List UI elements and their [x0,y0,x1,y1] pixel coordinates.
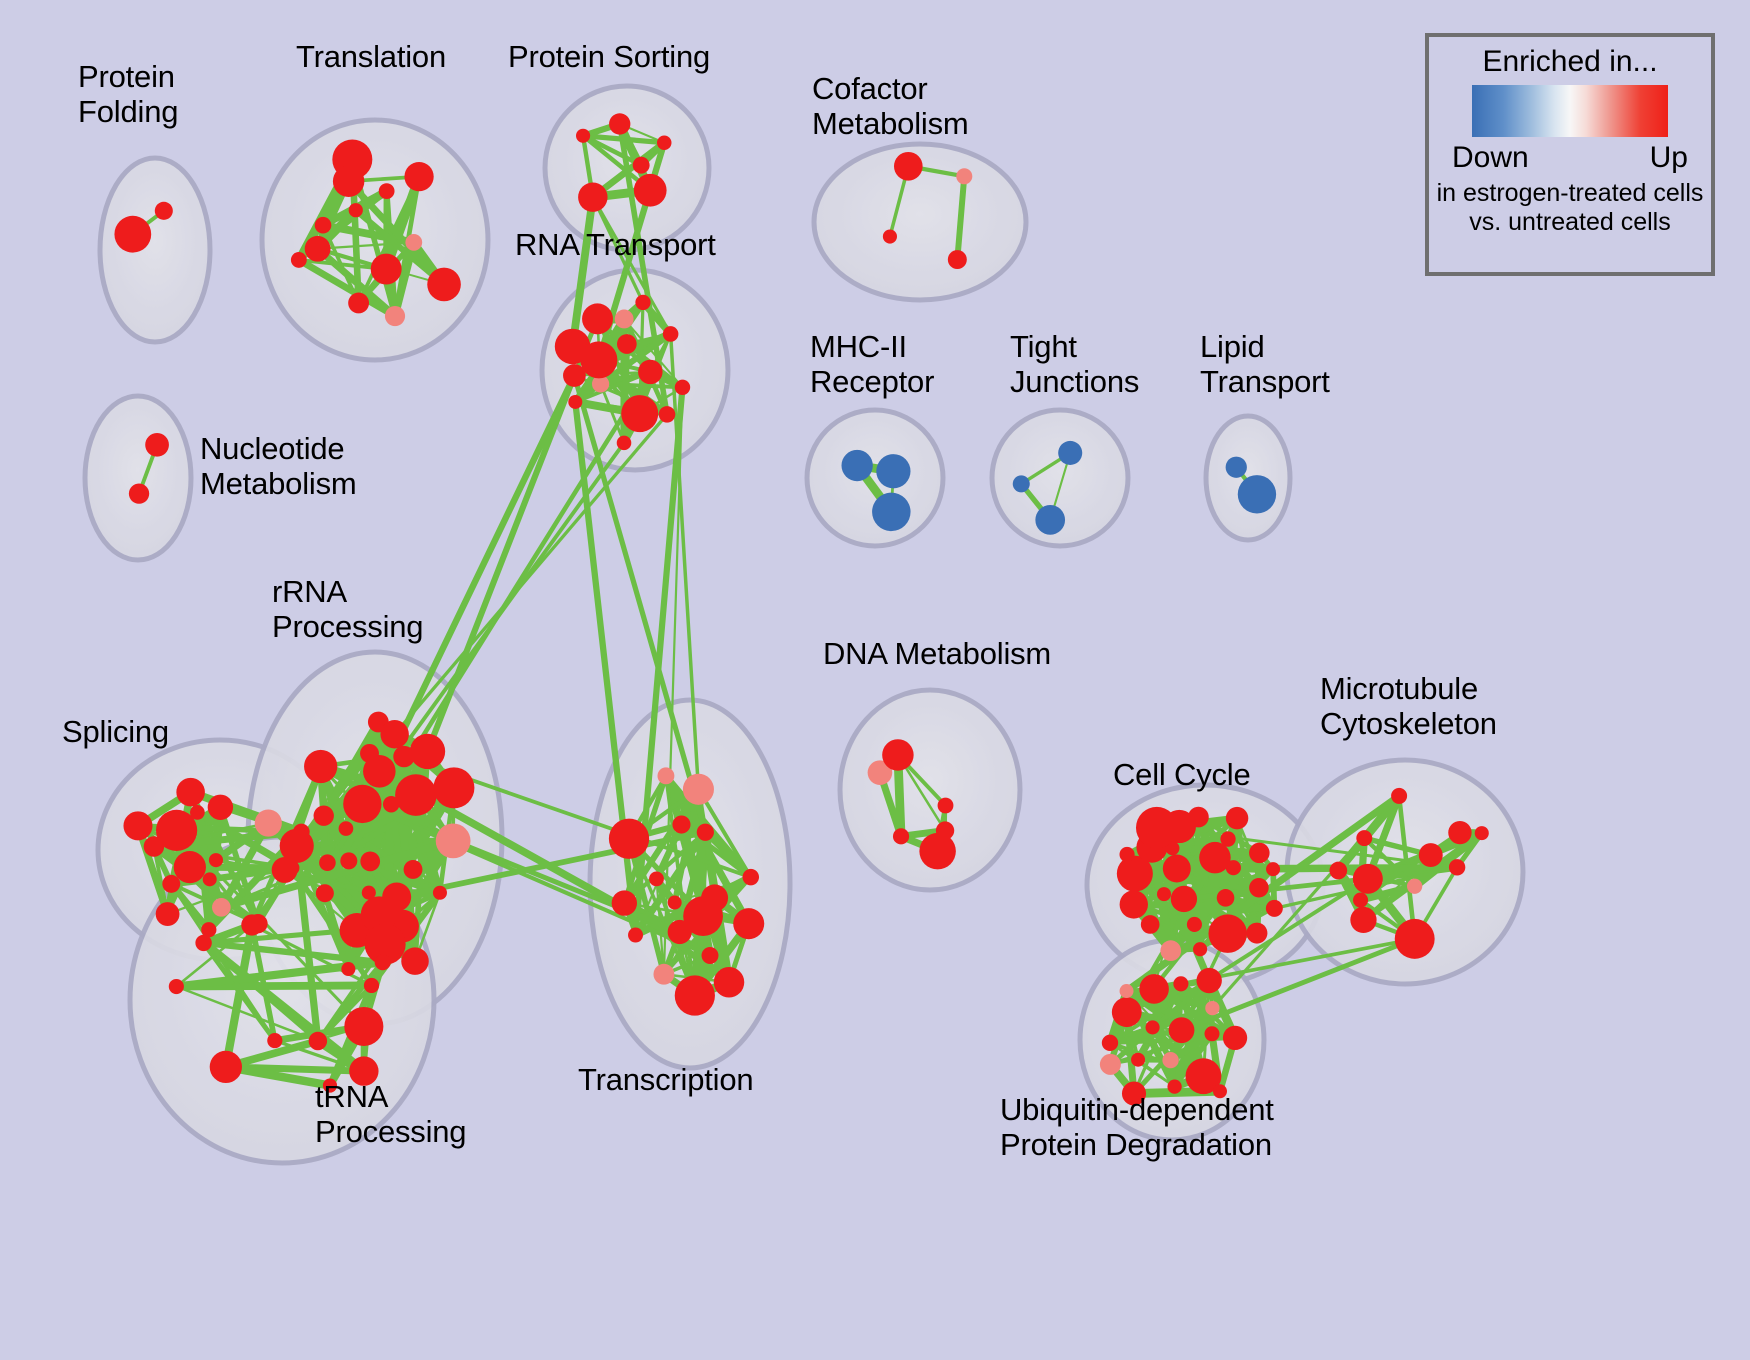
network-node[interactable] [1350,907,1376,933]
network-node[interactable] [675,380,690,395]
network-node[interactable] [393,746,414,767]
network-node[interactable] [395,774,437,816]
network-node[interactable] [714,967,744,997]
network-node[interactable] [876,454,910,488]
network-node[interactable] [344,1007,383,1046]
cluster-ellipse-mhc-ii-receptor[interactable] [807,410,943,546]
network-node[interactable] [938,798,954,814]
network-node[interactable] [1448,821,1471,844]
network-node[interactable] [195,935,211,951]
network-node[interactable] [401,947,429,975]
network-node[interactable] [582,303,613,334]
network-node[interactable] [1475,826,1489,840]
network-node[interactable] [176,778,205,807]
network-node[interactable] [1223,1026,1247,1050]
network-node[interactable] [653,964,674,985]
network-node[interactable] [1112,997,1142,1027]
network-node[interactable] [348,293,369,314]
cluster-label-tight-junctions: Tight Junctions [1010,330,1139,399]
network-node[interactable] [144,836,165,857]
network-node[interactable] [382,883,411,912]
cluster-label-protein-sorting: Protein Sorting [508,40,710,75]
network-node[interactable] [609,819,649,859]
cluster-label-cell-cycle: Cell Cycle [1113,758,1251,793]
legend-high-label: Up [1650,141,1688,175]
network-node[interactable] [212,898,231,917]
network-node[interactable] [427,268,461,302]
legend-subtitle-line1: in estrogen-treated cells [1437,179,1704,208]
network-node[interactable] [956,168,972,184]
network-node[interactable] [169,979,184,994]
network-node[interactable] [1058,441,1082,465]
network-node[interactable] [1141,915,1160,934]
network-node[interactable] [893,828,909,844]
network-node[interactable] [1163,855,1191,883]
network-node[interactable] [1449,859,1465,875]
cluster-label-nucleotide-metabolism: Nucleotide Metabolism [200,432,357,501]
network-node[interactable] [1266,862,1280,876]
network-node[interactable] [615,310,634,329]
legend-subtitle-line2: vs. untreated cells [1437,208,1704,237]
network-node[interactable] [1173,976,1188,991]
network-node[interactable] [1193,942,1207,956]
network-node[interactable] [621,395,658,432]
network-node[interactable] [305,236,331,262]
edge [624,344,627,443]
network-node[interactable] [576,129,590,143]
cluster-ellipse-protein-folding[interactable] [100,158,210,342]
network-node[interactable] [436,823,471,858]
network-node[interactable] [1204,1026,1219,1041]
network-node[interactable] [339,821,354,836]
network-node[interactable] [580,341,617,378]
network-figure: Protein FoldingTranslationProtein Sortin… [0,0,1750,1360]
network-node[interactable] [360,851,380,871]
network-node[interactable] [1169,1017,1195,1043]
network-node[interactable] [1395,919,1435,959]
network-node[interactable] [617,334,637,354]
network-node[interactable] [1391,788,1407,804]
network-node[interactable] [210,1051,242,1083]
network-node[interactable] [341,962,355,976]
cluster-label-protein-folding: Protein Folding [78,60,178,129]
network-node[interactable] [371,254,402,285]
network-node[interactable] [919,833,956,870]
network-node[interactable] [882,739,913,770]
network-node[interactable] [1353,864,1383,894]
network-node[interactable] [634,174,667,207]
network-node[interactable] [1035,505,1065,535]
network-node[interactable] [145,433,169,457]
network-node[interactable] [1249,878,1269,898]
network-node[interactable] [617,436,632,451]
legend-title: Enriched in... [1482,45,1657,79]
cluster-label-trna-processing: tRNA Processing [315,1080,466,1149]
network-node[interactable] [683,896,723,936]
network-node[interactable] [272,857,298,883]
network-node[interactable] [1163,810,1196,843]
cluster-label-dna-metabolism: DNA Metabolism [823,637,1051,672]
network-node[interactable] [1171,886,1197,912]
network-node[interactable] [733,908,764,939]
network-node[interactable] [304,750,337,783]
network-node[interactable] [1226,457,1247,478]
network-node[interactable] [123,811,152,840]
network-node[interactable] [675,975,715,1015]
network-node[interactable] [1205,1001,1219,1015]
network-node[interactable] [936,821,954,839]
network-node[interactable] [383,796,399,812]
network-node[interactable] [683,774,714,805]
legend-panel: Enriched in... Down Up in estrogen-treat… [1425,33,1715,276]
network-node[interactable] [1013,475,1030,492]
cluster-label-rna-transport: RNA Transport [515,228,716,263]
cluster-label-transcription: Transcription [578,1063,753,1098]
cluster-label-microtubule-cytoskeleton: Microtubule Cytoskeleton [1320,672,1497,741]
cluster-label-mhc-ii-receptor: MHC-II Receptor [810,330,934,399]
network-node[interactable] [314,806,334,826]
cluster-label-translation: Translation [296,40,446,75]
network-node[interactable] [316,884,334,902]
cluster-ellipse-nucleotide-metabolism[interactable] [85,396,191,560]
network-node[interactable] [1329,862,1347,880]
network-node[interactable] [668,896,682,910]
network-node[interactable] [190,805,205,820]
network-node[interactable] [638,360,662,384]
network-node[interactable] [659,406,676,423]
network-node[interactable] [1119,847,1134,862]
network-node[interactable] [1266,900,1283,917]
network-node[interactable] [404,162,433,191]
network-node[interactable] [405,234,422,251]
network-node[interactable] [255,809,282,836]
network-node[interactable] [1246,923,1267,944]
network-node[interactable] [1249,843,1270,864]
network-node[interactable] [1131,1053,1145,1067]
network-node[interactable] [315,217,332,234]
network-node[interactable] [209,853,223,867]
network-node[interactable] [1160,940,1181,961]
network-node[interactable] [609,113,630,134]
network-node[interactable] [1407,879,1422,894]
network-node[interactable] [1199,842,1230,873]
network-node[interactable] [1196,968,1221,993]
network-node[interactable] [208,795,233,820]
network-node[interactable] [203,872,217,886]
network-node[interactable] [628,928,643,943]
network-node[interactable] [379,183,395,199]
network-node[interactable] [343,785,381,823]
network-node[interactable] [340,852,357,869]
network-node[interactable] [1157,887,1171,901]
network-node[interactable] [1146,1020,1160,1034]
network-node[interactable] [743,869,760,886]
network-node[interactable] [1100,1054,1121,1075]
network-node[interactable] [1226,807,1248,829]
network-node[interactable] [155,202,173,220]
network-node[interactable] [649,871,664,886]
network-node[interactable] [404,860,423,879]
network-node[interactable] [364,978,379,993]
network-node[interactable] [1162,1052,1178,1068]
network-node[interactable] [1238,475,1276,513]
network-node[interactable] [872,493,910,531]
network-node[interactable] [633,157,650,174]
network-node[interactable] [612,890,637,915]
cluster-label-rrna-processing: rRNA Processing [272,575,423,644]
network-node[interactable] [433,886,447,900]
legend-endpoints: Down Up [1452,141,1688,175]
network-node[interactable] [657,135,671,149]
legend-subtitle: in estrogen-treated cells vs. untreated … [1437,179,1704,237]
network-node[interactable] [349,203,363,217]
network-node[interactable] [894,152,923,181]
network-node[interactable] [363,755,396,788]
network-node[interactable] [433,767,474,808]
network-node[interactable] [1356,830,1372,846]
network-node[interactable] [1187,917,1202,932]
network-node[interactable] [697,824,714,841]
network-node[interactable] [1217,889,1235,907]
cluster-label-cofactor-metabolism: Cofactor Metabolism [812,72,969,141]
network-node[interactable] [702,947,719,964]
network-node[interactable] [309,1032,327,1050]
network-node[interactable] [385,306,405,326]
network-node[interactable] [1102,1035,1118,1051]
network-node[interactable] [156,902,180,926]
network-node[interactable] [657,767,674,784]
network-node[interactable] [410,734,445,769]
network-node[interactable] [174,851,206,883]
network-node[interactable] [568,395,582,409]
cluster-label-splicing: Splicing [62,715,169,750]
network-node[interactable] [1353,892,1368,907]
network-node[interactable] [291,252,307,268]
cluster-label-lipid-transport: Lipid Transport [1200,330,1330,399]
network-node[interactable] [241,914,262,935]
network-node[interactable] [267,1033,282,1048]
network-node[interactable] [1120,890,1148,918]
network-node[interactable] [841,450,872,481]
network-node[interactable] [948,250,967,269]
network-node[interactable] [672,815,690,833]
network-node[interactable] [1208,914,1246,952]
network-node[interactable] [319,854,336,871]
network-node[interactable] [663,326,679,342]
network-node[interactable] [362,886,376,900]
network-node[interactable] [114,216,151,253]
network-node[interactable] [635,295,650,310]
network-node[interactable] [1419,843,1443,867]
legend-color-gradient [1472,85,1668,137]
network-node[interactable] [129,483,149,503]
network-node[interactable] [883,229,897,243]
cluster-label-ubiquitin-protein-degradation: Ubiquitin-dependent Protein Degradation [1000,1093,1274,1162]
network-node[interactable] [333,166,364,197]
network-node[interactable] [578,182,607,211]
network-node[interactable] [1120,984,1134,998]
network-node[interactable] [380,720,408,748]
legend-low-label: Down [1452,141,1529,175]
network-node[interactable] [1139,974,1169,1004]
network-node[interactable] [375,954,391,970]
